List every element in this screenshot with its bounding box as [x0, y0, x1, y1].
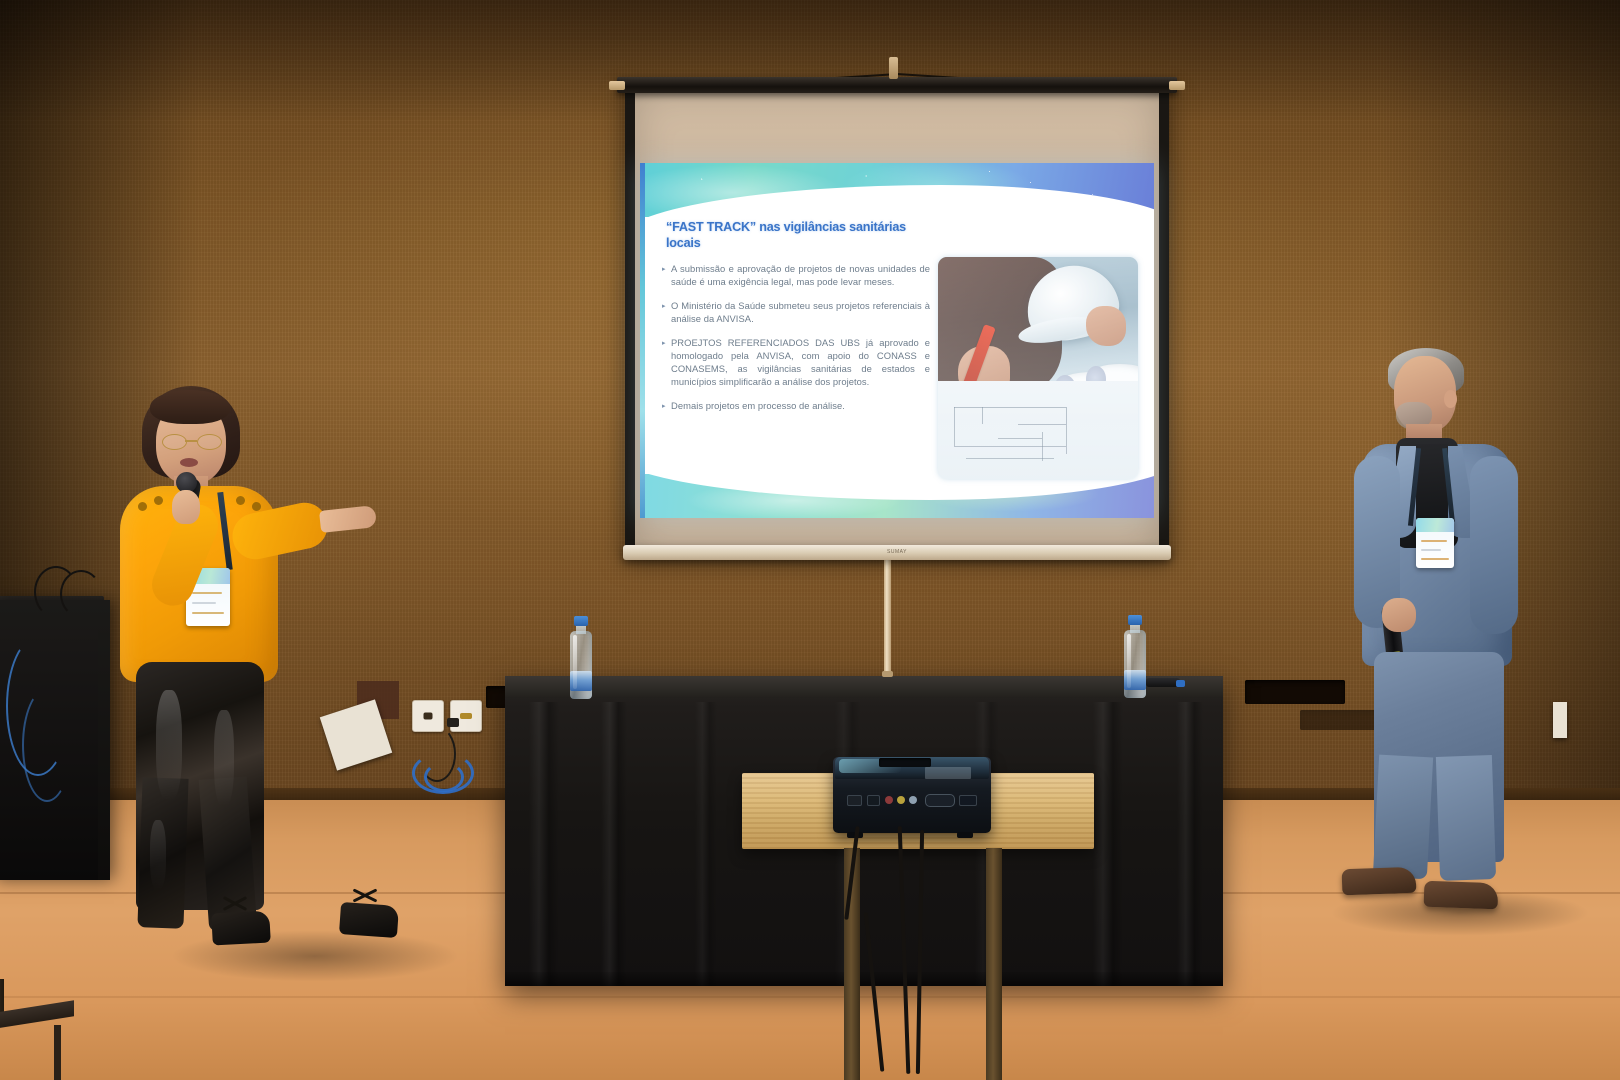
- eyeglasses: [162, 434, 220, 448]
- right-platform-heel: [339, 902, 399, 938]
- projector-port-panel: [847, 791, 977, 817]
- wall-network-socket[interactable]: [450, 700, 482, 732]
- screen-bottom-roller[interactable]: SUMAY: [623, 545, 1171, 560]
- presentation-remote[interactable]: [1146, 678, 1180, 687]
- bottle-cap: [1128, 615, 1142, 625]
- left-hand: [172, 490, 200, 524]
- slide-bullet-list: ▸ A submissão e aprovação de projetos de…: [662, 263, 930, 424]
- blue-network-cable-coil: [424, 762, 464, 792]
- bullet-triangle-icon: ▸: [662, 340, 671, 389]
- left-dress-shoe: [1342, 867, 1417, 896]
- left-leg: [1373, 755, 1433, 880]
- screen-bar-end-right: [1169, 81, 1185, 90]
- screen-support-leg: [884, 558, 891, 676]
- bullet-text: Demais projetos em processo de análise.: [671, 400, 930, 413]
- conference-badge: [1416, 518, 1454, 568]
- av-blue-cable-2: [22, 688, 72, 802]
- right-hand: [319, 505, 377, 533]
- bullet-triangle-icon: ▸: [662, 266, 671, 289]
- left-arm: [1470, 456, 1518, 634]
- bullet-triangle-icon: ▸: [662, 403, 671, 413]
- water-bottle-left[interactable]: [568, 615, 594, 699]
- slide-title: “FAST TRACK” nas vigilâncias sanitárias …: [666, 219, 924, 251]
- right-leg: [1436, 755, 1496, 881]
- video-projector[interactable]: [833, 757, 991, 833]
- right-dress-shoe: [1424, 881, 1499, 910]
- man-presenter[interactable]: [1348, 352, 1608, 932]
- left-platform-heel: [211, 911, 271, 946]
- projection-screen: “FAST TRACK” nas vigilâncias sanitárias …: [617, 63, 1177, 563]
- screen-brand-label: SUMAY: [887, 549, 907, 555]
- slide-body: “FAST TRACK” nas vigilâncias sanitárias …: [640, 207, 1154, 499]
- table-top-edge: [505, 676, 1223, 698]
- right-hand: [1382, 598, 1416, 632]
- badge-header: [1416, 518, 1454, 532]
- ear: [1444, 390, 1457, 408]
- chair[interactable]: [0, 985, 80, 1080]
- mouth: [180, 458, 198, 467]
- bullet-text: PROEJTOS REFERENCIADOS DAS UBS já aprova…: [671, 337, 930, 389]
- slide-photo-blueprint: [938, 257, 1138, 479]
- wall-vent-right: [1245, 680, 1345, 704]
- bullet-triangle-icon: ▸: [662, 303, 671, 326]
- power-plug: [447, 718, 459, 727]
- projector-brand-plate: [925, 767, 971, 779]
- screen-leg-foot: [882, 671, 893, 677]
- slide-bullet-item: ▸ A submissão e aprovação de projetos de…: [662, 263, 930, 289]
- presentation-photo: “FAST TRACK” nas vigilâncias sanitárias …: [0, 0, 1620, 1080]
- bottle-cap: [574, 616, 588, 626]
- stand-leg-right: [986, 848, 1002, 1080]
- slide-bullet-item: ▸ Demais projetos em processo de análise…: [662, 400, 930, 413]
- water-bottle-right[interactable]: [1122, 614, 1148, 698]
- screen-bar-end-left: [609, 81, 625, 90]
- slide-bullet-item: ▸ PROEJTOS REFERENCIADOS DAS UBS já apro…: [662, 337, 930, 389]
- table-cloth-hem: [505, 972, 1223, 986]
- remote-button[interactable]: [1176, 680, 1185, 687]
- slide-left-accent: [640, 163, 645, 518]
- av-cable-loop-2: [60, 570, 102, 618]
- chair-seat: [0, 1000, 74, 1030]
- screen-top-bar: [617, 77, 1177, 93]
- wall-hook: [889, 57, 898, 79]
- hair-fringe: [150, 390, 230, 424]
- slide-bullet-item: ▸ O Ministério da Saúde submeteu seus pr…: [662, 300, 930, 326]
- bullet-text: O Ministério da Saúde submeteu seus proj…: [671, 300, 930, 326]
- projector-vent: [879, 758, 931, 767]
- bullet-text: A submissão e aprovação de projetos de n…: [671, 263, 930, 289]
- woman-presenter[interactable]: [110, 390, 410, 970]
- projected-slide: “FAST TRACK” nas vigilâncias sanitárias …: [640, 163, 1154, 518]
